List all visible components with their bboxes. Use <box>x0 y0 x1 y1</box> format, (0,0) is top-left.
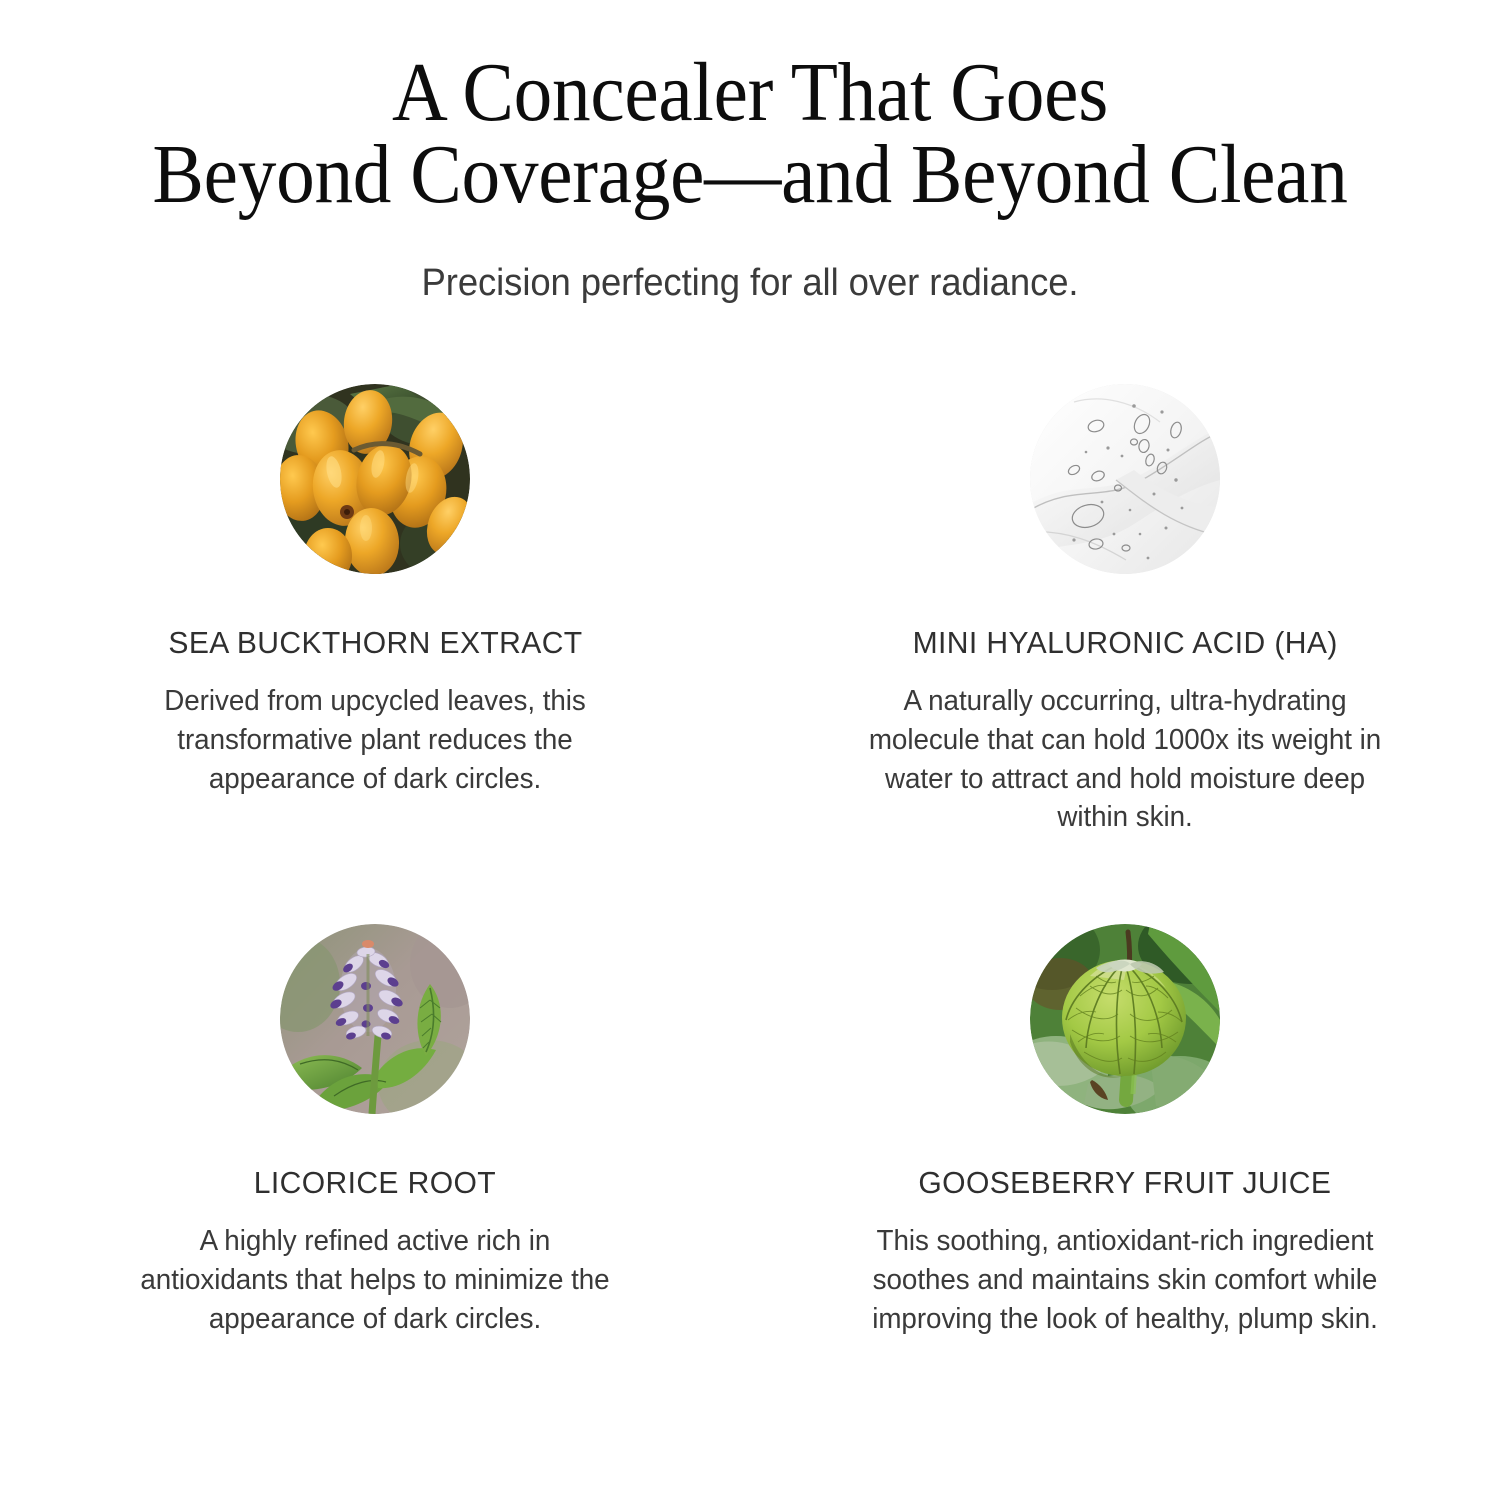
ingredient-description: A highly refined active rich in antioxid… <box>131 1200 619 1338</box>
page-subtitle: Precision perfecting for all over radian… <box>30 217 1470 307</box>
ingredients-grid: SEA BUCKTHORN EXTRACT Derived from upcyc… <box>0 370 1500 1450</box>
ingredient-card-hyaluronic-acid: MINI HYALURONIC ACID (HA) A naturally oc… <box>750 370 1500 910</box>
ingredient-description: Derived from upcycled leaves, this trans… <box>131 660 619 798</box>
page-header: A Concealer That Goes Beyond Coverage—an… <box>0 52 1500 306</box>
ingredient-title: GOOSEBERRY FRUIT JUICE <box>919 1114 1332 1200</box>
ingredient-card-gooseberry: GOOSEBERRY FRUIT JUICE This soothing, an… <box>750 910 1500 1450</box>
ingredient-card-licorice-root: LICORICE ROOT A highly refined active ri… <box>0 910 750 1450</box>
hyaluronic-acid-gel-texture-photo <box>1030 384 1220 574</box>
page-title: A Concealer That Goes Beyond Coverage—an… <box>60 52 1440 217</box>
ingredient-title: MINI HYALURONIC ACID (HA) <box>912 574 1337 660</box>
ingredient-benefits-page: A Concealer That Goes Beyond Coverage—an… <box>0 0 1500 1500</box>
licorice-root-flower-photo <box>280 924 470 1114</box>
ingredient-description: This soothing, antioxidant-rich ingredie… <box>852 1200 1398 1338</box>
gooseberry-fruit-husk-photo <box>1030 924 1220 1114</box>
ingredient-title: LICORICE ROOT <box>254 1114 496 1200</box>
ingredient-card-sea-buckthorn: SEA BUCKTHORN EXTRACT Derived from upcyc… <box>0 370 750 910</box>
ingredient-description: A naturally occurring, ultra-hydrating m… <box>852 660 1398 837</box>
sea-buckthorn-berries-photo <box>280 384 470 574</box>
ingredient-title: SEA BUCKTHORN EXTRACT <box>168 574 582 660</box>
